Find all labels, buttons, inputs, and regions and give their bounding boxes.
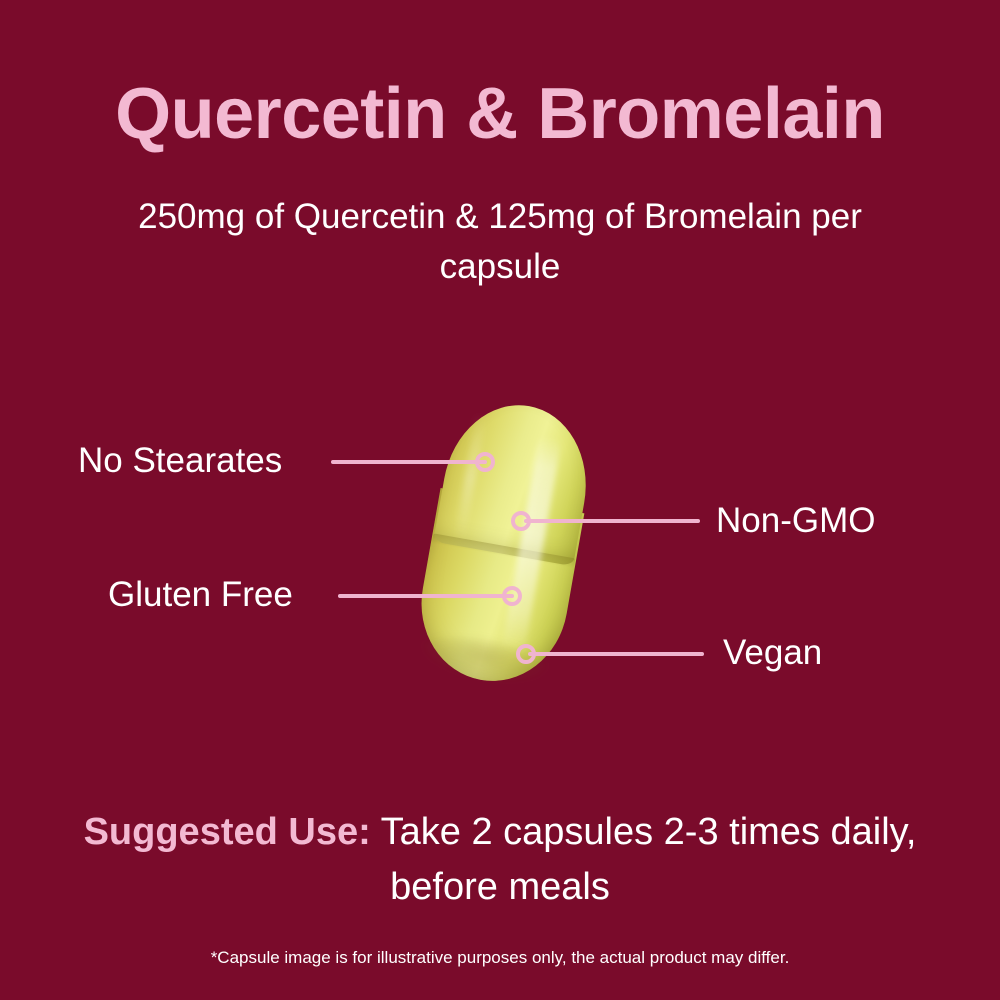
leader-line-non-gmo: [524, 519, 700, 523]
leader-line-no-stearates: [331, 460, 487, 464]
suggested-use-block: Suggested Use: Take 2 capsules 2-3 times…: [70, 805, 930, 915]
callout-label-non-gmo: Non-GMO: [716, 503, 875, 538]
leader-dot-no-stearates: [475, 452, 495, 472]
product-infographic: Quercetin & Bromelain 250mg of Quercetin…: [0, 0, 1000, 1000]
leader-dot-non-gmo: [511, 511, 531, 531]
leader-dot-vegan: [516, 644, 536, 664]
callout-label-no-stearates: No Stearates: [78, 443, 282, 478]
leader-line-vegan: [528, 652, 704, 656]
callout-label-gluten-free: Gluten Free: [108, 577, 293, 612]
leader-dot-gluten-free: [502, 586, 522, 606]
suggested-use-text: Take 2 capsules 2-3 times daily, before …: [381, 811, 917, 908]
suggested-use-label: Suggested Use:: [84, 811, 371, 853]
leader-line-gluten-free: [338, 594, 514, 598]
disclaimer-footnote: *Capsule image is for illustrative purpo…: [100, 948, 900, 968]
callout-label-vegan: Vegan: [723, 635, 822, 670]
